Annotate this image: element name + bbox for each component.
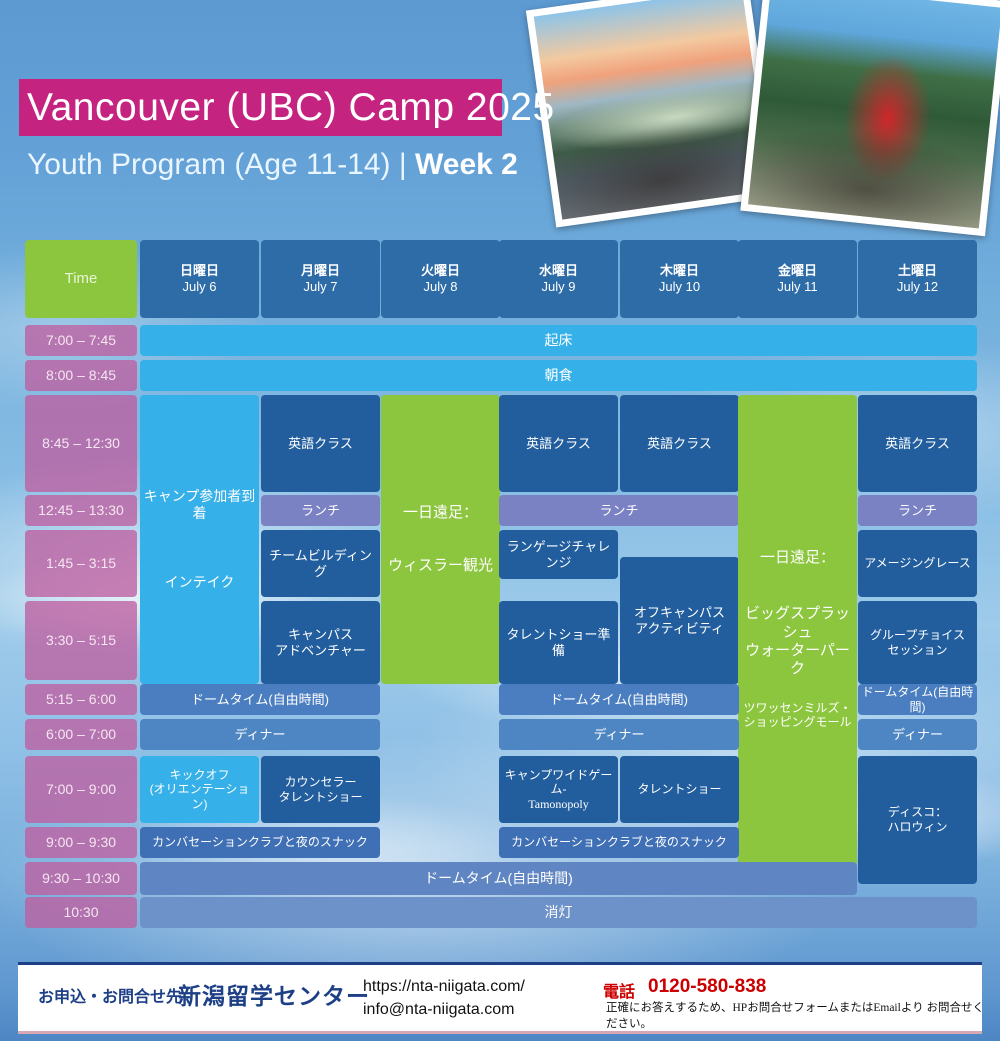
- event-snack-club-sun-mon: カンバセーションクラブと夜のスナック: [140, 827, 380, 858]
- event-dorm-time-wed-thu: ドームタイム(自由時間): [499, 684, 739, 715]
- time-slot-6: 3:30 – 5:15: [25, 601, 137, 680]
- header-day-1: 日曜日July 6: [140, 240, 259, 318]
- time-slot-7: 5:15 – 6:00: [25, 684, 137, 715]
- header-time-label: Time: [25, 240, 137, 318]
- footer-website-url[interactable]: https://nta-niigata.com/: [363, 978, 525, 996]
- footer-lead-label: お申込・お問合せ先: [38, 983, 182, 1007]
- header-day-2: 月曜日July 7: [261, 240, 380, 318]
- time-slot-11: 9:30 – 10:30: [25, 862, 137, 895]
- footer-note: 正確にお答えするため、HPお問合せフォームまたはEmailより お問合せください…: [606, 1001, 986, 1032]
- time-slot-8: 6:00 – 7:00: [25, 719, 137, 750]
- event-talent-show-prep: タレントショー準備: [499, 601, 618, 684]
- event-amazing-race: アメージングレース: [858, 530, 977, 597]
- event-english-thu: 英語クラス: [620, 395, 739, 492]
- event-arrival-intake: キャンプ参加者到着インテイク: [140, 395, 259, 684]
- time-slot-1: 7:00 – 7:45: [25, 325, 137, 356]
- event-english-wed: 英語クラス: [499, 395, 618, 492]
- event-dorm-time-sat: ドームタイム(自由時間): [858, 684, 977, 715]
- event-lunch-sat: ランチ: [858, 495, 977, 526]
- event-lights-out: 消灯: [140, 897, 977, 928]
- header-day-7: 土曜日July 12: [858, 240, 977, 318]
- event-english-sat: 英語クラス: [858, 395, 977, 492]
- event-dinner-wed-thu: ディナー: [499, 719, 739, 750]
- header-day-3: 火曜日July 8: [381, 240, 500, 318]
- time-slot-4: 12:45 – 13:30: [25, 495, 137, 526]
- time-slot-10: 9:00 – 9:30: [25, 827, 137, 858]
- footer-email[interactable]: info@nta-niigata.com: [363, 1001, 514, 1019]
- time-slot-2: 8:00 – 8:45: [25, 360, 137, 391]
- footer-contact-bar: お申込・お問合せ先 新潟留学センター https://nta-niigata.c…: [18, 962, 982, 1034]
- event-snack-club-wed-thu: カンバセーションクラブと夜のスナック: [499, 827, 739, 858]
- event-campwide-game: キャンプワイドゲーム-Tamonopoly: [499, 756, 618, 823]
- event-campus-adventure: キャンパスアドベンチャー: [261, 601, 380, 684]
- footer-phone-label: 電話: [603, 978, 635, 1002]
- header-day-4: 水曜日July 9: [499, 240, 618, 318]
- time-slot-3: 8:45 – 12:30: [25, 395, 137, 492]
- event-dinner-sun-mon: ディナー: [140, 719, 380, 750]
- event-disco-halloween: ディスコ：ハロウィン: [858, 756, 977, 884]
- event-off-campus-activity: オフキャンパスアクティビティ: [620, 557, 739, 684]
- footer-organization: 新潟留学センター: [178, 977, 370, 1011]
- header-day-5: 木曜日July 10: [620, 240, 739, 318]
- event-group-choice: グループチョイスセッション: [858, 601, 977, 684]
- event-excursion-bigsplash: 一日遠足：ビッグスプラッシュウォーターパークツワッセンミルズ・ショッピングモール: [738, 395, 857, 884]
- event-kickoff: キックオフ(オリエンテーション): [140, 756, 259, 823]
- event-lunch-wed-thu: ランチ: [499, 495, 739, 526]
- event-excursion-whistler: 一日遠足：ウィスラー観光: [381, 395, 500, 684]
- time-slot-9: 7:00 – 9:00: [25, 756, 137, 823]
- footer-phone-number: 0120-580-838: [648, 976, 766, 998]
- event-english-mon: 英語クラス: [261, 395, 380, 492]
- event-counselor-talent-show: カウンセラータレントショー: [261, 756, 380, 823]
- schedule-grid: Time日曜日July 6月曜日July 7火曜日July 8水曜日July 9…: [0, 0, 1000, 1041]
- event-language-challenge: ランゲージチャレンジ: [499, 530, 618, 579]
- time-slot-5: 1:45 – 3:15: [25, 530, 137, 597]
- event-breakfast: 朝食: [140, 360, 977, 391]
- header-day-6: 金曜日July 11: [738, 240, 857, 318]
- event-dinner-sat: ディナー: [858, 719, 977, 750]
- event-team-building: チームビルディング: [261, 530, 380, 597]
- event-wakeup: 起床: [140, 325, 977, 356]
- event-lunch-mon: ランチ: [261, 495, 380, 526]
- time-slot-12: 10:30: [25, 897, 137, 928]
- event-dorm-time-all: ドームタイム(自由時間): [140, 862, 857, 895]
- event-talent-show: タレントショー: [620, 756, 739, 823]
- event-dorm-time-sun-mon: ドームタイム(自由時間): [140, 684, 380, 715]
